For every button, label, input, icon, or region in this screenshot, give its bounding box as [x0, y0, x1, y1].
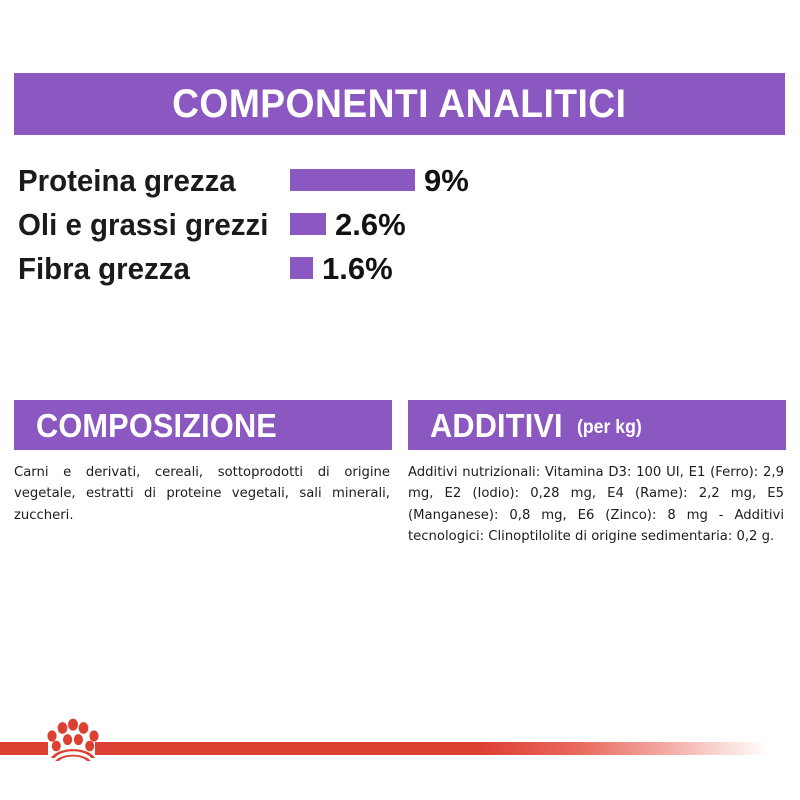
- analytical-components-chart: Proteina grezza 9% Oli e grassi grezzi 2…: [18, 158, 778, 290]
- additivi-banner: ADDITIVI (per kg): [408, 400, 786, 450]
- chart-row: Proteina grezza 9%: [18, 158, 778, 202]
- additivi-heading: ADDITIVI: [430, 409, 563, 442]
- nutrient-bar: [290, 213, 326, 235]
- nutrient-label: Fibra grezza: [18, 253, 276, 284]
- royal-canin-crown-icon: [47, 715, 99, 761]
- chart-row: Fibra grezza 1.6%: [18, 246, 778, 290]
- nutrition-info-panel: COMPONENTI ANALITICI Proteina grezza 9% …: [0, 0, 800, 800]
- chart-row: Oli e grassi grezzi 2.6%: [18, 202, 778, 246]
- nutrient-value: 2.6%: [335, 209, 406, 240]
- nutrient-label: Proteina grezza: [18, 165, 276, 196]
- nutrient-bar: [290, 257, 313, 279]
- details-columns: COMPOSIZIONE Carni e derivati, cereali, …: [14, 400, 786, 548]
- section-composizione: COMPOSIZIONE Carni e derivati, cereali, …: [14, 400, 392, 548]
- nutrient-value: 9%: [424, 165, 469, 196]
- nutrient-value: 1.6%: [322, 253, 393, 284]
- additivi-heading-suffix: (per kg): [577, 418, 642, 437]
- composizione-banner: COMPOSIZIONE: [14, 400, 392, 450]
- footer-rule: [0, 742, 800, 755]
- composizione-body: Carni e derivati, cereali, sottoprodotti…: [14, 462, 392, 526]
- page-title: COMPONENTI ANALITICI: [172, 84, 626, 124]
- nutrient-label: Oli e grassi grezzi: [18, 209, 276, 240]
- additivi-body: Additivi nutrizionali: Vitamina D3: 100 …: [408, 462, 786, 548]
- composizione-heading: COMPOSIZIONE: [36, 409, 277, 442]
- section-additivi: ADDITIVI (per kg) Additivi nutrizionali:…: [408, 400, 786, 548]
- analytical-components-banner: COMPONENTI ANALITICI: [14, 73, 785, 135]
- footer: [0, 742, 800, 760]
- nutrient-bar: [290, 169, 415, 191]
